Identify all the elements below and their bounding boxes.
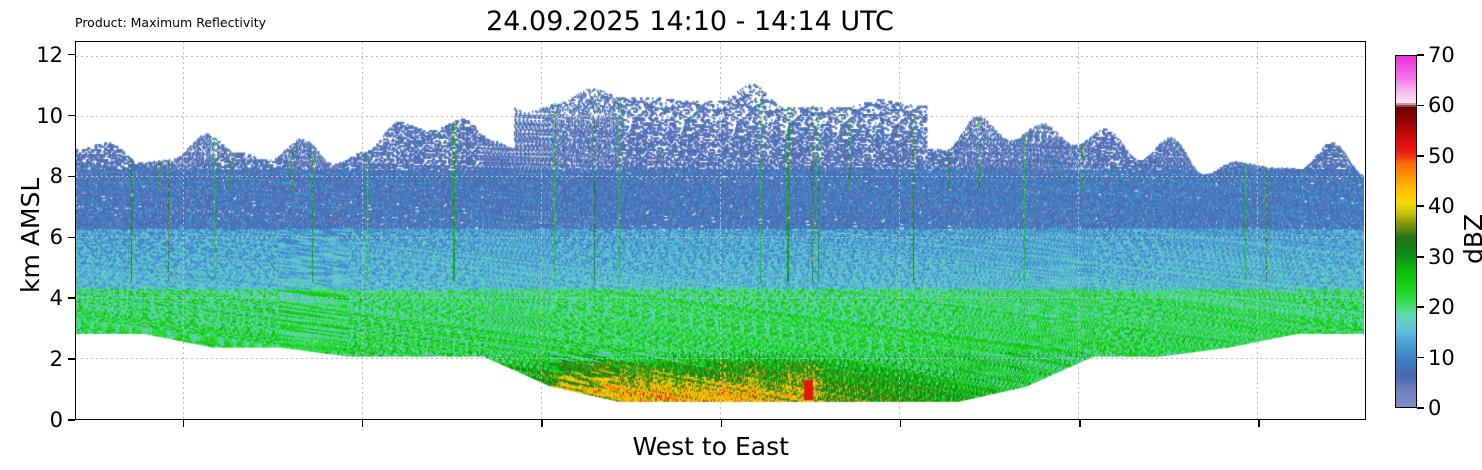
colorbar-tick-mark [1417, 357, 1424, 359]
colorbar-label: dBZ [1459, 213, 1482, 263]
colorbar-tick-mark [1417, 407, 1424, 409]
colorbar-tick-label-10: 10 [1428, 346, 1455, 370]
y-tick-label-0: 0 [50, 408, 63, 432]
colorbar-tick-label-20: 20 [1428, 295, 1455, 319]
colorbar-segment [1396, 407, 1416, 408]
y-tick-mark [68, 297, 75, 299]
colorbar [1395, 55, 1417, 408]
colorbar-tick-label-70: 70 [1428, 43, 1455, 67]
radar-cross-section-figure: Product: Maximum Reflectivity 24.09.2025… [0, 0, 1482, 470]
chart-title: 24.09.2025 14:10 - 14:14 UTC [0, 6, 1380, 37]
colorbar-tick-mark [1417, 54, 1424, 56]
y-tick-label-4: 4 [50, 286, 63, 310]
y-tick-mark [68, 358, 75, 360]
colorbar-tick-label-50: 50 [1428, 144, 1455, 168]
y-tick-label-6: 6 [50, 225, 63, 249]
reflectivity-heatmap [76, 42, 1364, 418]
y-axis-label: km AMSL [16, 177, 45, 292]
x-tick-mark-2 [541, 420, 543, 427]
plot-area [75, 41, 1366, 420]
y-tick-label-8: 8 [50, 164, 63, 188]
x-tick-mark-5 [1079, 420, 1081, 427]
colorbar-tick-mark [1417, 205, 1424, 207]
colorbar-tick-mark [1417, 256, 1424, 258]
y-tick-mark [68, 176, 75, 178]
y-tick-label-12: 12 [36, 43, 63, 67]
y-tick-mark [68, 237, 75, 239]
x-tick-mark-1 [362, 420, 364, 427]
y-tick-label-2: 2 [50, 347, 63, 371]
y-tick-mark [68, 54, 75, 56]
x-axis-label: West to East [633, 432, 789, 461]
y-tick-label-10: 10 [36, 104, 63, 128]
x-tick-mark-3 [721, 420, 723, 427]
colorbar-tick-label-40: 40 [1428, 194, 1455, 218]
y-tick-mark [68, 419, 75, 421]
colorbar-tick-label-30: 30 [1428, 245, 1455, 269]
x-tick-mark-0 [183, 420, 185, 427]
colorbar-tick-mark [1417, 155, 1424, 157]
colorbar-tick-mark [1417, 306, 1424, 308]
colorbar-tick-mark [1417, 105, 1424, 107]
y-tick-mark [68, 115, 75, 117]
x-tick-mark-4 [900, 420, 902, 427]
x-tick-mark-6 [1258, 420, 1260, 427]
colorbar-tick-label-60: 60 [1428, 93, 1455, 117]
colorbar-tick-label-0: 0 [1428, 396, 1441, 420]
